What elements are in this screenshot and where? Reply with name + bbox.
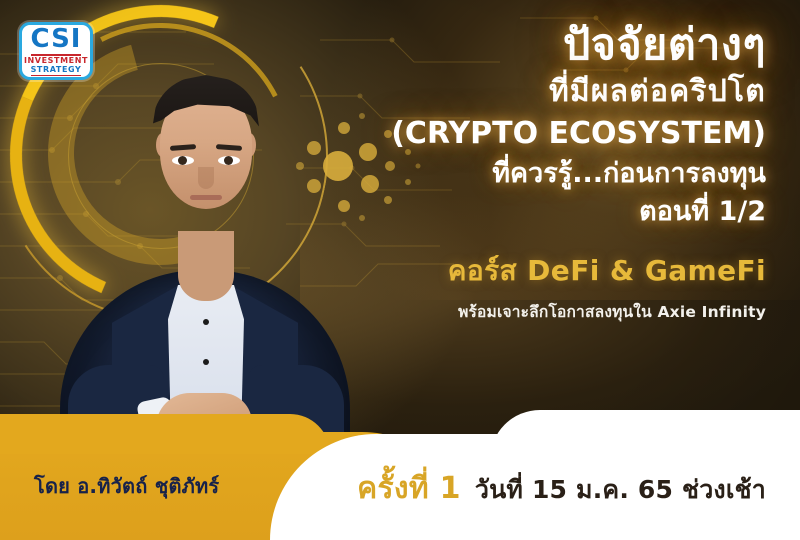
headline-line-3-english: (CRYPTO ECOSYSTEM) [296, 117, 766, 152]
session-info: ครั้งที่ 1 วันที่ 15 ม.ค. 65 ช่วงเช้า [357, 465, 766, 512]
headline-block: ปัจจัยต่างๆ ที่มีผลต่อคริปโต (CRYPTO ECO… [296, 22, 766, 324]
course-subtitle: พร้อมเจาะลึกโอกาสลงทุนใน Axie Infinity [296, 299, 766, 324]
csi-logo[interactable]: CSI INVESTMENT STRATEGY [19, 22, 93, 80]
course-title: คอร์ส DeFi & GameFi [296, 249, 766, 293]
session-number: ครั้งที่ 1 [357, 465, 461, 512]
session-date: วันที่ 15 ม.ค. 65 ช่วงเช้า [475, 470, 766, 510]
headline-line-1: ปัจจัยต่างๆ [296, 22, 766, 69]
speaker-credit: โดย อ.ทิวัตถ์ ชุติภัทร์ [34, 470, 219, 502]
headline-line-4: ที่ควรรู้...ก่อนการลงทุน [296, 158, 766, 189]
logo-underline [31, 75, 81, 76]
logo-wordmark: CSI [31, 26, 82, 52]
promo-banner: CSI INVESTMENT STRATEGY ปัจจัยต่างๆ ที่ม… [0, 0, 800, 540]
headline-part-number: ตอนที่ 1/2 [296, 196, 766, 227]
headline-line-2: ที่มีผลต่อคริปโต [296, 75, 766, 110]
logo-subtitle-strategy: STRATEGY [31, 66, 82, 74]
